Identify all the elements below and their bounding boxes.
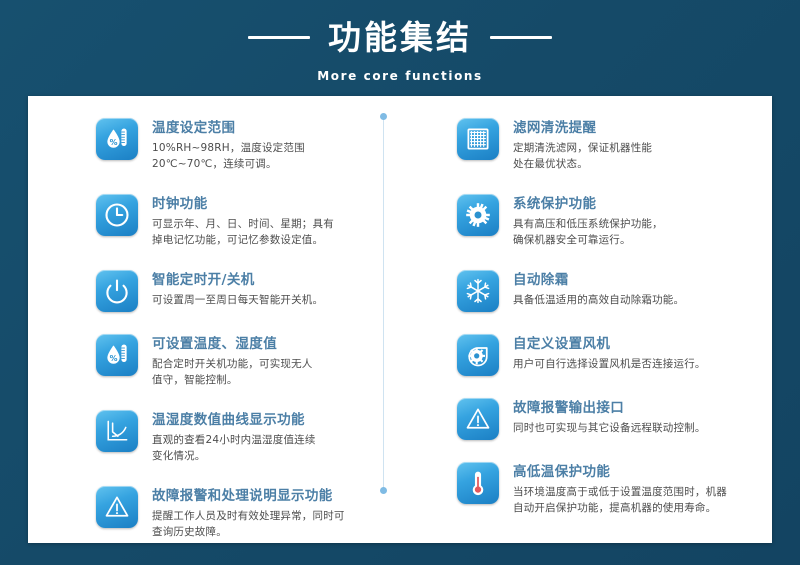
content-panel: % 温度设定范围 10 [28,96,772,543]
feature-columns: % 温度设定范围 10 [28,96,772,543]
gear-icon [457,194,499,236]
header: 功能集结 More core functions [0,0,800,96]
poster-root: 功能集结 More core functions % [0,0,800,565]
feature-text: 故障报警输出接口 同时也可实现与其它设备远程联动控制。 [513,398,706,437]
feature-desc: 定期清洗滤网，保证机器性能 处在最优状态。 [513,141,652,172]
feature-title: 智能定时开/关机 [152,271,323,290]
feature-text: 温湿度数值曲线显示功能 直观的查看24小时内温湿度值连续 变化情况。 [152,410,316,464]
clock-icon [96,194,138,236]
feature-desc: 配合定时开关机功能，可实现无人 值守，智能控制。 [152,357,313,388]
feature-title: 故障报警输出接口 [513,399,706,418]
humidity-thermometer-icon: % [96,118,138,160]
svg-text:%: % [110,354,118,363]
title-rule-left [248,36,310,39]
feature-item: 温湿度数值曲线显示功能 直观的查看24小时内温湿度值连续 变化情况。 [96,410,374,464]
feature-desc: 提醒工作人员及时有效处理异常，同时可 查询历史故障。 [152,509,345,540]
left-feature-column: % 温度设定范围 10 [46,118,400,525]
feature-item: 滤网清洗提醒 定期清洗滤网，保证机器性能 处在最优状态。 [457,118,742,172]
page-subtitle: More core functions [317,69,483,83]
feature-text: 故障报警和处理说明显示功能 提醒工作人员及时有效处理异常，同时可 查询历史故障。 [152,486,345,540]
warning-triangle-icon [96,486,138,528]
feature-text: 自动除霜 具备低温适用的高效自动除霜功能。 [513,270,684,309]
feature-item: 自动除霜 具备低温适用的高效自动除霜功能。 [457,270,742,312]
feature-title: 温度设定范围 [152,119,305,138]
blower-fan-icon [457,334,499,376]
feature-title: 故障报警和处理说明显示功能 [152,487,345,506]
feature-item: 智能定时开/关机 可设置周一至周日每天智能开关机。 [96,270,374,312]
feature-text: 温度设定范围 10%RH~98RH，温度设定范围 20℃~70℃，连续可调。 [152,118,305,172]
feature-desc: 10%RH~98RH，温度设定范围 20℃~70℃，连续可调。 [152,141,305,172]
feature-title: 可设置温度、湿度值 [152,335,313,354]
feature-desc: 同时也可实现与其它设备远程联动控制。 [513,421,706,437]
feature-desc: 用户可自行选择设置风机是否连接运行。 [513,357,706,373]
feature-item: 故障报警和处理说明显示功能 提醒工作人员及时有效处理异常，同时可 查询历史故障。 [96,486,374,540]
feature-text: 系统保护功能 具有高压和低压系统保护功能， 确保机器安全可靠运行。 [513,194,663,248]
feature-text: 高低温保护功能 当环境温度高于或低于设置温度范围时，机器 自动开启保护功能，提高… [513,462,727,516]
feature-title: 自定义设置风机 [513,335,706,354]
feature-item: 故障报警输出接口 同时也可实现与其它设备远程联动控制。 [457,398,742,440]
feature-title: 滤网清洗提醒 [513,119,652,138]
feature-item: 高低温保护功能 当环境温度高于或低于设置温度范围时，机器 自动开启保护功能，提高… [457,462,742,516]
feature-desc: 可显示年、月、日、时间、星期；具有 掉电记忆功能，可记忆参数设定值。 [152,217,334,248]
snowflake-icon [457,270,499,312]
feature-item: 时钟功能 可显示年、月、日、时间、星期；具有 掉电记忆功能，可记忆参数设定值。 [96,194,374,248]
title-row: 功能集结 [248,14,552,62]
feature-text: 智能定时开/关机 可设置周一至周日每天智能开关机。 [152,270,323,309]
filter-mesh-icon [457,118,499,160]
feature-desc: 具备低温适用的高效自动除霜功能。 [513,293,684,309]
right-feature-column: 滤网清洗提醒 定期清洗滤网，保证机器性能 处在最优状态。 [400,118,754,525]
feature-text: 可设置温度、湿度值 配合定时开关机功能，可实现无人 值守，智能控制。 [152,334,313,388]
feature-title: 系统保护功能 [513,195,663,214]
feature-item: 自定义设置风机 用户可自行选择设置风机是否连接运行。 [457,334,742,376]
thermometer-icon [457,462,499,504]
svg-text:%: % [110,138,118,147]
feature-desc: 具有高压和低压系统保护功能， 确保机器安全可靠运行。 [513,217,663,248]
feature-item: % 可设置温度、湿度值 [96,334,374,388]
curve-chart-icon [96,410,138,452]
power-icon [96,270,138,312]
feature-item: % 温度设定范围 10 [96,118,374,172]
feature-text: 滤网清洗提醒 定期清洗滤网，保证机器性能 处在最优状态。 [513,118,652,172]
feature-text: 时钟功能 可显示年、月、日、时间、星期；具有 掉电记忆功能，可记忆参数设定值。 [152,194,334,248]
feature-desc: 直观的查看24小时内温湿度值连续 变化情况。 [152,433,316,464]
feature-text: 自定义设置风机 用户可自行选择设置风机是否连接运行。 [513,334,706,373]
feature-title: 时钟功能 [152,195,334,214]
humidity-thermometer-icon: % [96,334,138,376]
feature-title: 自动除霜 [513,271,684,290]
feature-title: 高低温保护功能 [513,463,727,482]
feature-item: 系统保护功能 具有高压和低压系统保护功能， 确保机器安全可靠运行。 [457,194,742,248]
feature-desc: 当环境温度高于或低于设置温度范围时，机器 自动开启保护功能，提高机器的使用寿命。 [513,485,727,516]
feature-desc: 可设置周一至周日每天智能开关机。 [152,293,323,309]
title-rule-right [490,36,552,39]
warning-triangle-icon [457,398,499,440]
page-title: 功能集结 [328,19,472,57]
feature-title: 温湿度数值曲线显示功能 [152,411,316,430]
